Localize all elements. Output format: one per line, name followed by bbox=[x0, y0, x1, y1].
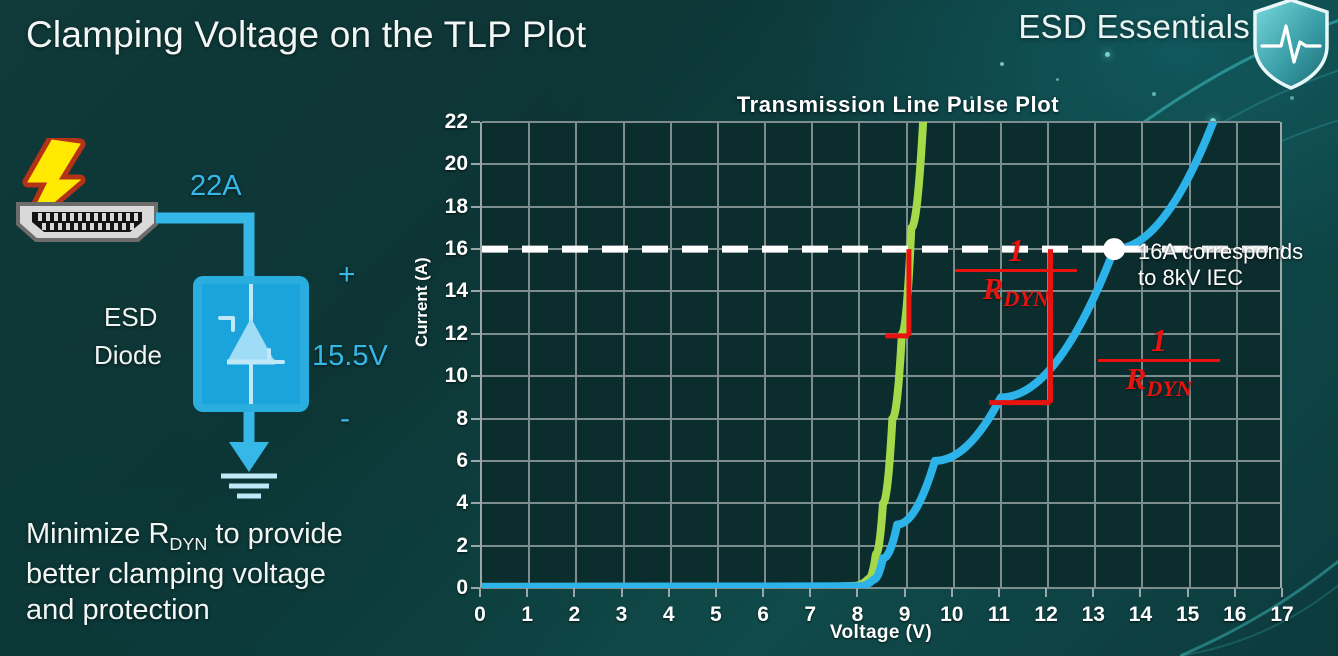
x-axis-tick bbox=[904, 588, 906, 597]
y-axis-tick bbox=[471, 333, 480, 335]
x-axis-tick bbox=[762, 588, 764, 597]
x-axis-tick bbox=[479, 588, 481, 597]
slope-fraction-blue-numerator: 1 bbox=[1098, 324, 1220, 356]
annotation-16a-iec: 16A corresponds to 8kV IEC bbox=[1138, 239, 1303, 290]
y-axis-tick bbox=[471, 290, 480, 292]
y-axis-tick bbox=[471, 121, 480, 123]
x-axis-tick-label: 12 bbox=[1034, 603, 1057, 627]
x-axis-tick bbox=[621, 588, 623, 597]
shield-pulse-icon bbox=[1248, 0, 1334, 92]
annotation-16a-line-2: to 8kV IEC bbox=[1138, 265, 1303, 291]
fraction-bar bbox=[955, 269, 1077, 272]
x-axis-tick bbox=[668, 588, 670, 597]
circuit-wiring bbox=[0, 150, 420, 510]
slope-fraction-green-denominator: RDYN bbox=[955, 273, 1077, 311]
x-axis-tick-label: 10 bbox=[940, 603, 963, 627]
y-axis-tick bbox=[471, 248, 480, 250]
y-axis-tick-label: 16 bbox=[426, 237, 468, 261]
y-axis-tick bbox=[471, 502, 480, 504]
y-axis-tick bbox=[471, 418, 480, 420]
y-axis-tick-label: 0 bbox=[426, 576, 468, 600]
x-axis-tick bbox=[526, 588, 528, 597]
caption-line-2: better clamping voltage bbox=[26, 556, 436, 593]
y-axis-tick bbox=[471, 587, 480, 589]
device-label-diode: Diode bbox=[94, 340, 162, 371]
x-axis-tick-label: 17 bbox=[1270, 603, 1293, 627]
x-axis-tick-label: 7 bbox=[804, 603, 816, 627]
x-axis-tick-label: 16 bbox=[1223, 603, 1246, 627]
y-axis-tick-label: 4 bbox=[426, 491, 468, 515]
den-base: R bbox=[1126, 361, 1147, 396]
y-axis-tick bbox=[471, 163, 480, 165]
x-axis-tick bbox=[715, 588, 717, 597]
den-sub: DYN bbox=[1003, 286, 1049, 311]
x-axis-tick-label: 5 bbox=[710, 603, 722, 627]
y-axis-tick-label: 20 bbox=[426, 152, 468, 176]
x-axis-tick bbox=[856, 588, 858, 597]
x-axis-title: Voltage (V) bbox=[480, 622, 1282, 644]
y-axis-tick bbox=[471, 206, 480, 208]
fraction-bar bbox=[1098, 359, 1220, 362]
polarity-plus: + bbox=[338, 258, 356, 292]
x-axis-tick-label: 1 bbox=[521, 603, 533, 627]
slope-step-green bbox=[885, 249, 909, 336]
x-axis-tick bbox=[1234, 588, 1236, 597]
x-axis-tick-label: 2 bbox=[569, 603, 581, 627]
x-axis-tick bbox=[1045, 588, 1047, 597]
y-axis-tick-label: 18 bbox=[426, 195, 468, 219]
slide-canvas: Clamping Voltage on the TLP Plot ESD Ess… bbox=[0, 0, 1338, 656]
sparkle bbox=[1000, 62, 1004, 66]
y-axis-tick-label: 2 bbox=[426, 534, 468, 558]
caption-line-1-sub: DYN bbox=[169, 534, 207, 554]
slope-fraction-green: 1 RDYN bbox=[955, 234, 1077, 311]
x-axis-tick-label: 0 bbox=[474, 603, 486, 627]
chart-title: Transmission Line Pulse Plot bbox=[688, 92, 1108, 118]
x-axis-tick bbox=[1139, 588, 1141, 597]
y-axis-tick bbox=[471, 375, 480, 377]
sparkle bbox=[1056, 78, 1059, 81]
x-axis-tick-label: 6 bbox=[757, 603, 769, 627]
y-axis-tick bbox=[471, 460, 480, 462]
x-axis-tick-label: 13 bbox=[1082, 603, 1105, 627]
x-axis-tick-label: 15 bbox=[1176, 603, 1199, 627]
page-title: Clamping Voltage on the TLP Plot bbox=[26, 14, 586, 56]
device-label-esd: ESD bbox=[104, 302, 157, 333]
x-axis-tick bbox=[1281, 588, 1283, 597]
caption-line-1-post: to provide bbox=[207, 518, 342, 550]
x-axis-tick-label: 3 bbox=[616, 603, 628, 627]
caption-text: Minimize RDYN to provide better clamping… bbox=[26, 516, 436, 629]
x-axis-tick bbox=[1092, 588, 1094, 597]
x-axis-tick bbox=[1187, 588, 1189, 597]
caption-line-1-pre: Minimize R bbox=[26, 518, 169, 550]
x-axis-tick-label: 4 bbox=[663, 603, 675, 627]
den-sub: DYN bbox=[1146, 376, 1192, 401]
x-axis-tick-label: 14 bbox=[1129, 603, 1152, 627]
slope-fraction-green-numerator: 1 bbox=[955, 234, 1077, 266]
esd-circuit-diagram: 22A ESD Diode 15.5V + - bbox=[0, 150, 420, 510]
x-axis-tick bbox=[998, 588, 1000, 597]
y-axis-tick-label: 10 bbox=[426, 364, 468, 388]
clamp-voltage-label: 15.5V bbox=[312, 340, 388, 373]
caption-line-3: and protection bbox=[26, 592, 436, 629]
y-axis-tick-label: 8 bbox=[426, 407, 468, 431]
slope-fraction-blue-denominator: RDYN bbox=[1098, 363, 1220, 401]
x-axis-tick-label: 9 bbox=[899, 603, 911, 627]
tlp-chart: Transmission Line Pulse Plot Current (A)… bbox=[420, 92, 1338, 652]
annotation-16a-line-1: 16A corresponds bbox=[1138, 239, 1303, 265]
x-axis-tick bbox=[573, 588, 575, 597]
y-axis-tick bbox=[471, 545, 480, 547]
den-base: R bbox=[983, 271, 1004, 306]
x-axis-tick-label: 11 bbox=[988, 603, 1010, 627]
y-axis-tick-label: 14 bbox=[426, 279, 468, 303]
x-axis-tick bbox=[951, 588, 953, 597]
current-label: 22A bbox=[190, 170, 242, 203]
slope-fraction-blue: 1 RDYN bbox=[1098, 324, 1220, 401]
y-axis-tick-label: 12 bbox=[426, 322, 468, 346]
brand-name: ESD Essentials bbox=[1018, 8, 1250, 46]
y-axis-tick-label: 22 bbox=[426, 110, 468, 134]
x-axis-tick-label: 8 bbox=[852, 603, 864, 627]
y-axis-tick-label: 6 bbox=[426, 449, 468, 473]
sparkle bbox=[1105, 52, 1110, 57]
x-axis-tick bbox=[809, 588, 811, 597]
polarity-minus: - bbox=[340, 402, 350, 436]
caption-line-1: Minimize RDYN to provide bbox=[26, 516, 436, 556]
